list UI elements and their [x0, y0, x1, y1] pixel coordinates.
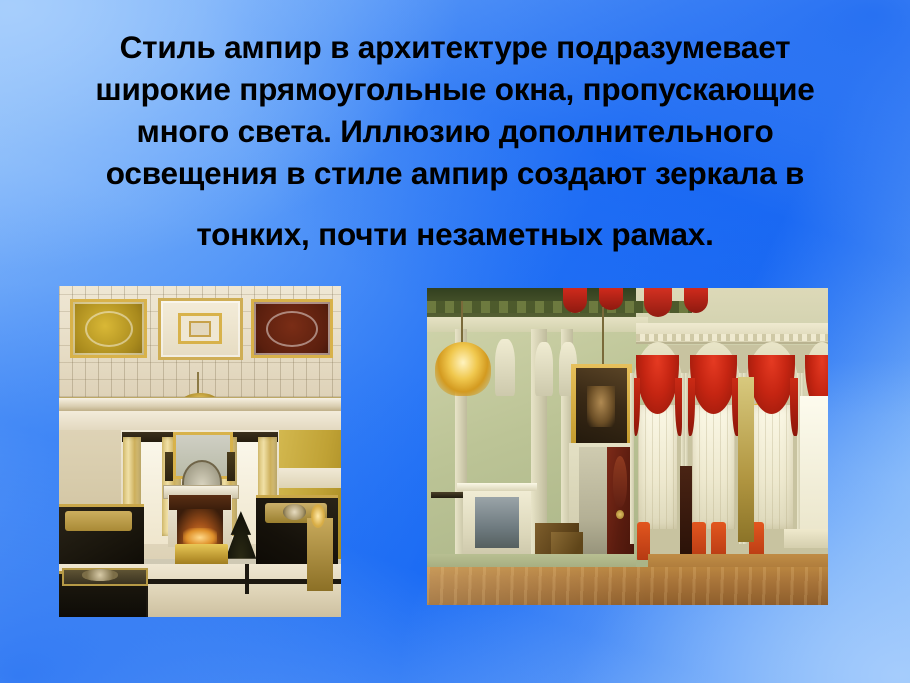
chandelier-stem	[197, 372, 199, 395]
caryatid-relief-1	[495, 339, 515, 396]
empire-salon-scene	[59, 286, 341, 617]
wall-bracket-rod	[431, 492, 463, 497]
image-empire-interior-gold-salon	[59, 286, 341, 617]
arched-window-bay-2	[686, 342, 742, 567]
pedestal-right	[307, 518, 332, 591]
crystal-chandelier-1	[435, 342, 491, 396]
console-table-far	[784, 529, 828, 548]
candelabrum-left	[165, 452, 173, 482]
slide-title-text: Стиль ампир в архитектуре подразумевает …	[0, 26, 910, 255]
fireplace-shelf	[457, 483, 537, 491]
chest-medallion-inlay	[82, 569, 119, 580]
sofa-left-cushion	[65, 511, 133, 531]
image-palace-hall-green-with-red-drapes	[427, 288, 828, 605]
sheer-curtain-folds	[751, 405, 794, 529]
upper-drape-4	[684, 288, 708, 313]
candelabrum-right	[227, 452, 235, 482]
caryatid-relief-2	[535, 342, 553, 396]
chandelier-rod-1	[461, 301, 463, 345]
slide-canvas: Стиль ампир в архитектуре подразумевает …	[0, 0, 910, 683]
red-drape-tail-right	[675, 378, 682, 437]
upper-drape-3	[644, 288, 672, 317]
ceiling-panel-inner-square-2	[189, 321, 211, 337]
ceiling-panel-ornament-red	[266, 311, 318, 347]
far-window-daylight	[800, 396, 828, 548]
sheer-curtain-folds	[638, 405, 678, 529]
cornice-dentil-band	[636, 334, 828, 341]
door-inlay-panel	[613, 456, 627, 507]
ceiling-panel-red-right	[251, 299, 333, 358]
palace-hall-scene	[427, 288, 828, 605]
title-line-3: много света. Иллюзию дополнительного	[0, 110, 910, 152]
fireplace-opening	[475, 497, 519, 548]
wall-right-moulding	[279, 468, 341, 488]
arched-window-bay-1	[632, 342, 684, 567]
ceiling-panel-ornament	[85, 311, 133, 347]
doorway-opening	[579, 447, 607, 567]
ceiling-panel-gold-left	[70, 299, 147, 358]
title-line-2: широкие прямоугольные окна, пропускающие	[0, 68, 910, 110]
fireplace-glow	[183, 528, 217, 545]
painting-figures	[587, 386, 615, 427]
sheer-curtain-folds	[692, 405, 735, 529]
title-line-1: Стиль ампир в архитектуре подразумевает	[0, 26, 910, 68]
upper-wall-band	[59, 411, 341, 430]
parquet-floor-sheen	[427, 567, 828, 605]
fireplace-lintel-carving	[169, 495, 231, 510]
title-line-5: тонких, почти незаметных рамах.	[0, 213, 910, 255]
dark-wall-panel	[680, 466, 693, 555]
red-drape-tail-right	[790, 378, 797, 437]
ceiling-panel-center	[158, 298, 243, 360]
floor-inlay-stripe-vertical-right	[245, 564, 249, 594]
title-line-4: освещения в стиле ампир создают зеркала …	[0, 152, 910, 194]
gilded-pier-mirror	[738, 377, 754, 542]
sofa-right-medallion	[283, 504, 306, 521]
